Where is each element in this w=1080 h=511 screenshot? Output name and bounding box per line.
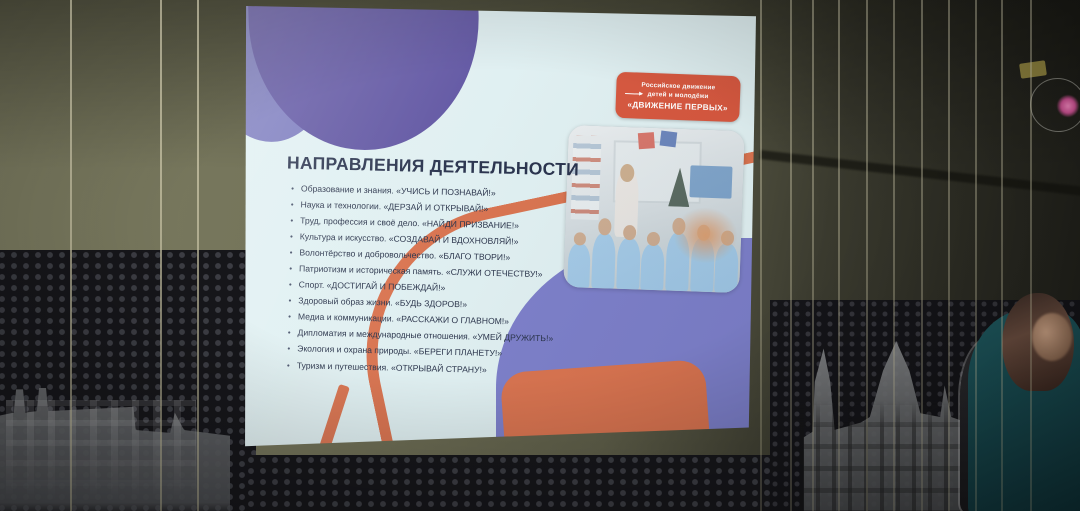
person-face [1032,313,1072,361]
paper-heart [831,15,845,28]
paper-heart [994,65,1008,78]
paper-heart [994,228,1008,241]
paper-heart [753,224,767,237]
paper-heart [831,328,844,340]
paper-heart [941,74,955,87]
paper-heart [832,380,845,392]
paper-heart [783,173,797,186]
paper-heart [805,213,819,226]
paper-heart [859,273,873,286]
paper-heart [805,154,819,167]
paper-heart [783,117,797,130]
paper-heart [914,339,929,353]
paper-heart [831,224,845,237]
paper-heart [886,228,899,240]
paper-heart [60,83,79,101]
paper-heart [805,453,820,467]
paper-heart [1023,100,1037,113]
paper-heart [783,5,798,19]
paper-heart [859,157,873,170]
paper-heart [886,118,900,131]
paper-heart [859,42,873,55]
paper-heart [61,379,79,396]
paper-heart [941,132,955,145]
garland-string [866,0,868,511]
paper-heart [152,204,169,220]
paper-heart [753,422,766,434]
paper-heart [859,331,874,345]
garland-string [160,0,162,511]
paper-heart [968,285,982,298]
paper-heart [941,417,954,429]
garland-string [197,0,199,511]
paper-heart [831,432,844,444]
paper-heart [831,484,844,496]
paper-heart [1023,419,1038,433]
paper-heart [805,34,818,46]
garland-string [893,0,895,511]
paper-heart [968,465,983,479]
paper-heart [941,189,955,202]
paper-heart [968,405,983,419]
paper-heart [1023,355,1038,369]
paper-heart [859,447,874,461]
paper-heart [753,91,767,104]
paper-heart [151,444,169,461]
paper-heart [151,364,169,381]
paper-heart [968,225,982,238]
paper-heart [887,338,900,350]
garland-string [975,0,977,511]
paper-heart [859,215,873,228]
paper-heart [188,107,206,124]
garland-string [760,0,762,511]
paper-heart [1023,36,1037,49]
paper-heart [994,11,1008,24]
paper-heart [886,62,900,75]
paper-heart [805,273,819,286]
paper-heart [60,9,79,27]
paper-heart [994,444,1007,456]
paper-heart [994,282,1007,294]
paper-heart [886,173,900,186]
paper-heart [831,276,844,288]
paper-heart [61,231,80,249]
paper-heart [859,505,873,511]
wall-shadow [0,0,1080,170]
paper-heart [1023,163,1037,176]
paper-heart [994,336,1007,348]
paper-heart [941,474,954,486]
paper-heart [61,454,79,471]
paper-heart [914,153,928,166]
pink-lamp-icon [1057,95,1079,117]
garland-string [70,0,72,511]
paper-heart [914,401,929,415]
paper-heart [914,277,929,291]
paper-heart [188,21,206,38]
paper-heart [914,30,928,43]
paper-heart [859,389,874,403]
paper-heart [783,398,796,410]
paper-heart [805,94,819,107]
paper-heart [187,365,206,383]
wall-panel-bottom [245,455,805,511]
photo-scene: Российское движение детей и молодёжи «ДВ… [0,0,1080,511]
garland-string [1030,0,1032,511]
paper-heart [886,393,899,405]
paper-heart [784,454,797,466]
paper-heart [941,17,955,30]
paper-heart [151,284,168,300]
paper-heart [187,451,206,469]
paper-heart [994,174,1008,187]
paper-heart [941,246,954,258]
paper-heart [1023,291,1037,304]
paper-heart [1023,227,1037,240]
paper-heart [753,290,767,303]
paper-heart [995,390,1008,402]
paper-heart [886,283,899,295]
paper-heart [968,165,982,178]
paper-heart [754,488,767,500]
paper-heart [783,342,796,354]
paper-heart [831,172,845,185]
paper-heart [151,124,168,140]
paper-heart [61,157,80,175]
paper-heart [886,503,900,511]
garland-string [812,0,814,511]
paper-heart [805,393,820,407]
paper-heart [914,91,928,104]
paper-heart [942,360,955,372]
paper-heart [968,345,983,359]
paper-heart [859,100,873,113]
paper-heart [968,46,982,59]
garland-string [921,0,923,511]
paper-heart [831,119,845,132]
paper-heart [968,106,982,119]
paper-heart [753,157,767,170]
paper-heart [805,333,819,346]
paper-heart [188,279,207,297]
paper-heart [914,463,928,476]
paper-heart [783,286,797,299]
paper-heart [1023,483,1038,497]
paper-heart [994,119,1008,132]
paper-heart [831,67,845,80]
paper-heart [753,25,767,38]
paper-heart [188,193,207,211]
garland-string [790,0,792,511]
paper-heart [783,230,797,243]
paper-heart [61,305,79,322]
paper-heart [886,7,900,20]
paper-heart [994,498,1007,510]
paper-heart [151,44,169,61]
paper-heart [783,61,797,74]
paper-heart [886,448,899,460]
paper-heart [753,356,766,368]
paper-heart [914,215,928,228]
paper-heart [941,303,954,315]
